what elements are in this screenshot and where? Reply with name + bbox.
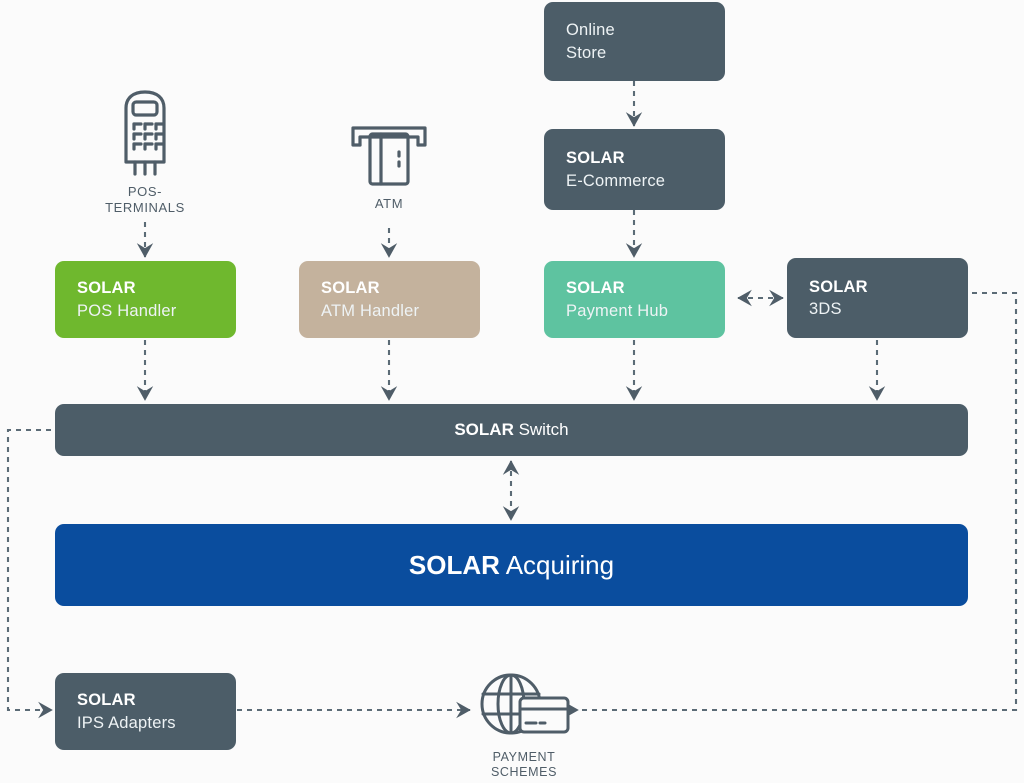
acquiring-label: SOLAR Acquiring: [409, 550, 614, 581]
atm-icon: [348, 120, 430, 190]
pos-caption-line2: TERMINALS: [105, 200, 185, 216]
payment-schemes-caption: PAYMENT SCHEMES: [491, 750, 557, 780]
ecommerce-line1: SOLAR: [566, 147, 725, 169]
bar-solar-acquiring[interactable]: SOLAR Acquiring: [55, 524, 968, 606]
pos-handler-line1: SOLAR: [77, 277, 236, 299]
switch-label: SOLAR Switch: [454, 420, 568, 440]
online-store-line2: Store: [566, 42, 725, 64]
switch-label-normal: Switch: [514, 420, 569, 439]
pos-caption-line1: POS-: [105, 184, 185, 200]
atm-handler-line1: SOLAR: [321, 277, 480, 299]
pos-terminals-group: POS- TERMINALS: [95, 86, 195, 215]
switch-label-bold: SOLAR: [454, 420, 514, 439]
pos-terminals-caption: POS- TERMINALS: [105, 184, 185, 215]
ips-adapters-line1: SOLAR: [77, 689, 236, 711]
pos-terminal-icon: [112, 86, 178, 178]
node-solar-ips-adapters[interactable]: SOLAR IPS Adapters: [55, 673, 236, 750]
three-ds-line2: 3DS: [809, 298, 968, 320]
acquiring-label-bold: SOLAR: [409, 550, 500, 580]
wire-3ds-to-schemes: [578, 293, 1016, 710]
pos-handler-line2: POS Handler: [77, 300, 236, 322]
node-solar-ecommerce[interactable]: SOLAR E-Commerce: [544, 129, 725, 210]
node-solar-3ds[interactable]: SOLAR 3DS: [787, 258, 968, 338]
three-ds-line1: SOLAR: [809, 276, 968, 298]
payment-hub-line1: SOLAR: [566, 277, 725, 299]
diagram-canvas: POS- TERMINALS ATM: [0, 0, 1024, 783]
node-solar-pos-handler[interactable]: SOLAR POS Handler: [55, 261, 236, 338]
atm-caption-line1: ATM: [375, 196, 403, 212]
payment-schemes-group: PAYMENT SCHEMES: [472, 672, 576, 780]
node-online-store[interactable]: Online Store: [544, 2, 725, 81]
acquiring-label-normal: Acquiring: [500, 550, 614, 580]
wire-switch-to-ips: [8, 430, 52, 710]
ips-adapters-line2: IPS Adapters: [77, 712, 236, 734]
node-solar-payment-hub[interactable]: SOLAR Payment Hub: [544, 261, 725, 338]
schemes-caption-line1: PAYMENT: [491, 750, 557, 765]
bar-solar-switch[interactable]: SOLAR Switch: [55, 404, 968, 456]
payment-hub-line2: Payment Hub: [566, 300, 725, 322]
schemes-caption-line2: SCHEMES: [491, 765, 557, 780]
online-store-line1: Online: [566, 19, 725, 41]
atm-handler-line2: ATM Handler: [321, 300, 480, 322]
atm-caption: ATM: [375, 196, 403, 212]
ecommerce-line2: E-Commerce: [566, 170, 725, 192]
atm-group: ATM: [339, 120, 439, 212]
payment-schemes-icon: [476, 672, 572, 744]
node-solar-atm-handler[interactable]: SOLAR ATM Handler: [299, 261, 480, 338]
